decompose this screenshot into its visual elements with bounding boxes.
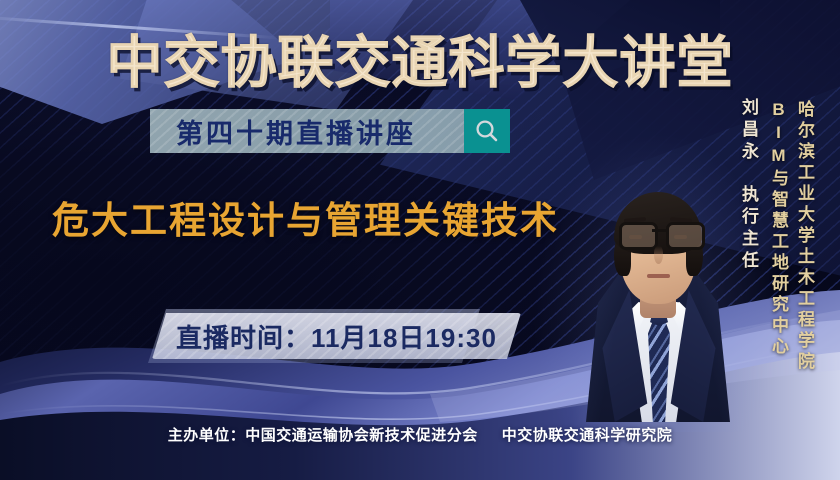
lecture-topic: 危大工程设计与管理关键技术 <box>52 190 559 244</box>
speaker-college: 哈尔滨工业大学土木工程学院 <box>792 100 817 373</box>
portrait-mouth <box>647 274 670 278</box>
portrait-glasses-bridge <box>652 229 666 232</box>
webinar-poster: 中交协联交通科学大讲堂 第四十期直播讲座 危大工程设计与管理关键技术 直播时间：… <box>0 0 840 480</box>
speaker-portrait <box>558 100 758 422</box>
search-icon <box>474 118 500 144</box>
footer-organizer-primary: 主办单位：中国交通运输协会新技术促进分会 <box>168 427 478 444</box>
episode-label: 第四十期直播讲座 <box>150 112 416 151</box>
time-badge-label: 直播时间：11月18日19:30 <box>176 318 497 355</box>
episode-band-fill: 第四十期直播讲座 <box>150 109 464 153</box>
speaker-research-center: BIM与智慧工地研究中心 <box>766 100 791 358</box>
time-badge: 直播时间：11月18日19:30 <box>152 313 521 359</box>
episode-band: 第四十期直播讲座 <box>150 109 510 153</box>
speaker-name: 刘昌永 <box>736 98 761 164</box>
page-title: 中交协联交通科学大讲堂 <box>0 18 840 99</box>
footer-organizers: 主办单位：中国交通运输协会新技术促进分会中交协联交通科学研究院 <box>0 424 840 445</box>
portrait-lens-left <box>619 222 658 250</box>
speaker-role: 执行主任 <box>736 185 761 273</box>
search-button[interactable] <box>464 109 510 153</box>
footer-organizer-secondary: 中交协联交通科学研究院 <box>502 427 673 444</box>
portrait-lens-right <box>666 222 705 250</box>
portrait-nose <box>654 246 663 264</box>
portrait-glasses <box>616 222 702 246</box>
